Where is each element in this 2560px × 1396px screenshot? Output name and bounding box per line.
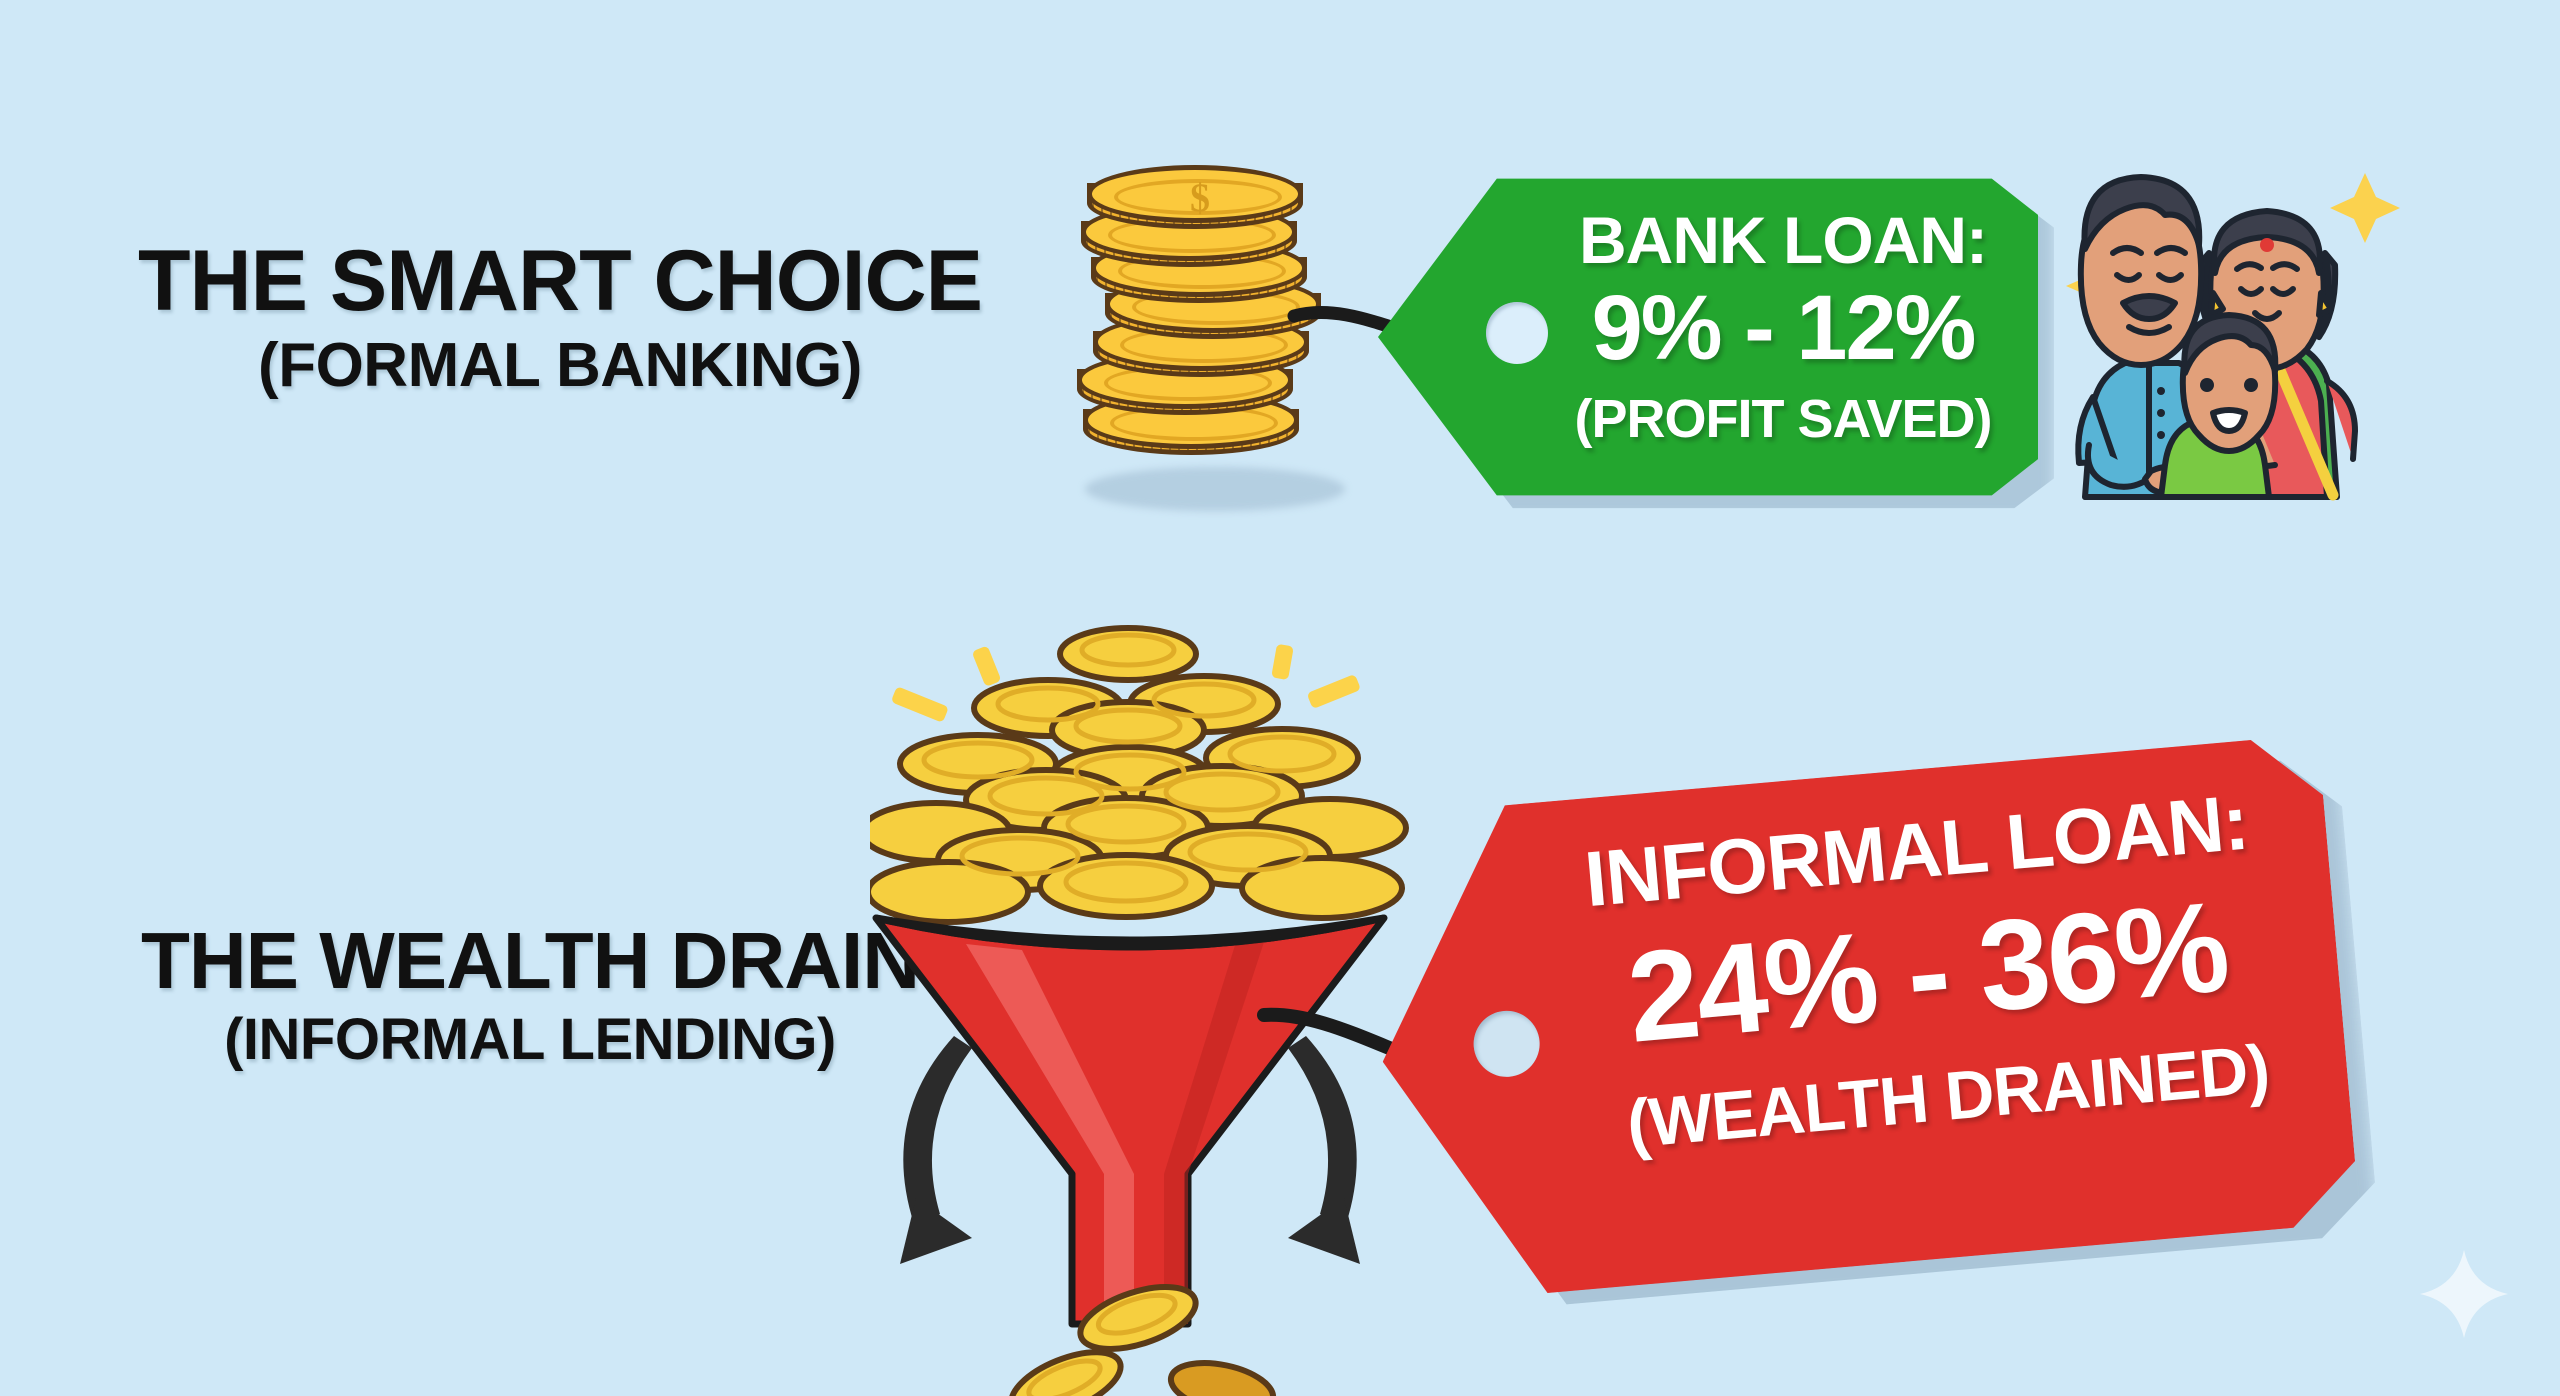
bank-loan-caption: (PROFIT SAVED) bbox=[1548, 388, 2018, 450]
bottom-heading-block: THE WEALTH DRAIN (INFORMAL LENDING) bbox=[60, 920, 1000, 1069]
informal-loan-tag[interactable]: INFORMAL LOAN: 24% - 36% (WEALTH DRAINED… bbox=[1361, 724, 2362, 1316]
coin-stack-shadow bbox=[1085, 467, 1345, 511]
sparkle-icon bbox=[2418, 1248, 2510, 1340]
bottom-heading-main: THE WEALTH DRAIN bbox=[60, 920, 1000, 1002]
dollar-symbol-icon: $ bbox=[1092, 174, 1308, 221]
top-heading-main: THE SMART CHOICE bbox=[90, 238, 1030, 326]
coin-disc-top: $ bbox=[1087, 165, 1303, 239]
bank-loan-label: BANK LOAN: bbox=[1548, 202, 2018, 278]
top-heading-sub: (FORMAL BANKING) bbox=[90, 334, 1030, 397]
infographic-canvas: THE SMART CHOICE (FORMAL BANKING) $ bbox=[0, 0, 2560, 1396]
happy-family-illustration bbox=[2065, 145, 2435, 505]
top-heading-block: THE SMART CHOICE (FORMAL BANKING) bbox=[90, 238, 1030, 397]
bank-loan-rate: 9% - 12% bbox=[1548, 276, 2018, 381]
tag-eyelet-hole bbox=[1486, 302, 1548, 364]
bank-loan-tag[interactable]: BANK LOAN: 9% - 12% (PROFIT SAVED) bbox=[1378, 172, 2038, 502]
bottom-heading-sub: (INFORMAL LENDING) bbox=[60, 1010, 1000, 1069]
